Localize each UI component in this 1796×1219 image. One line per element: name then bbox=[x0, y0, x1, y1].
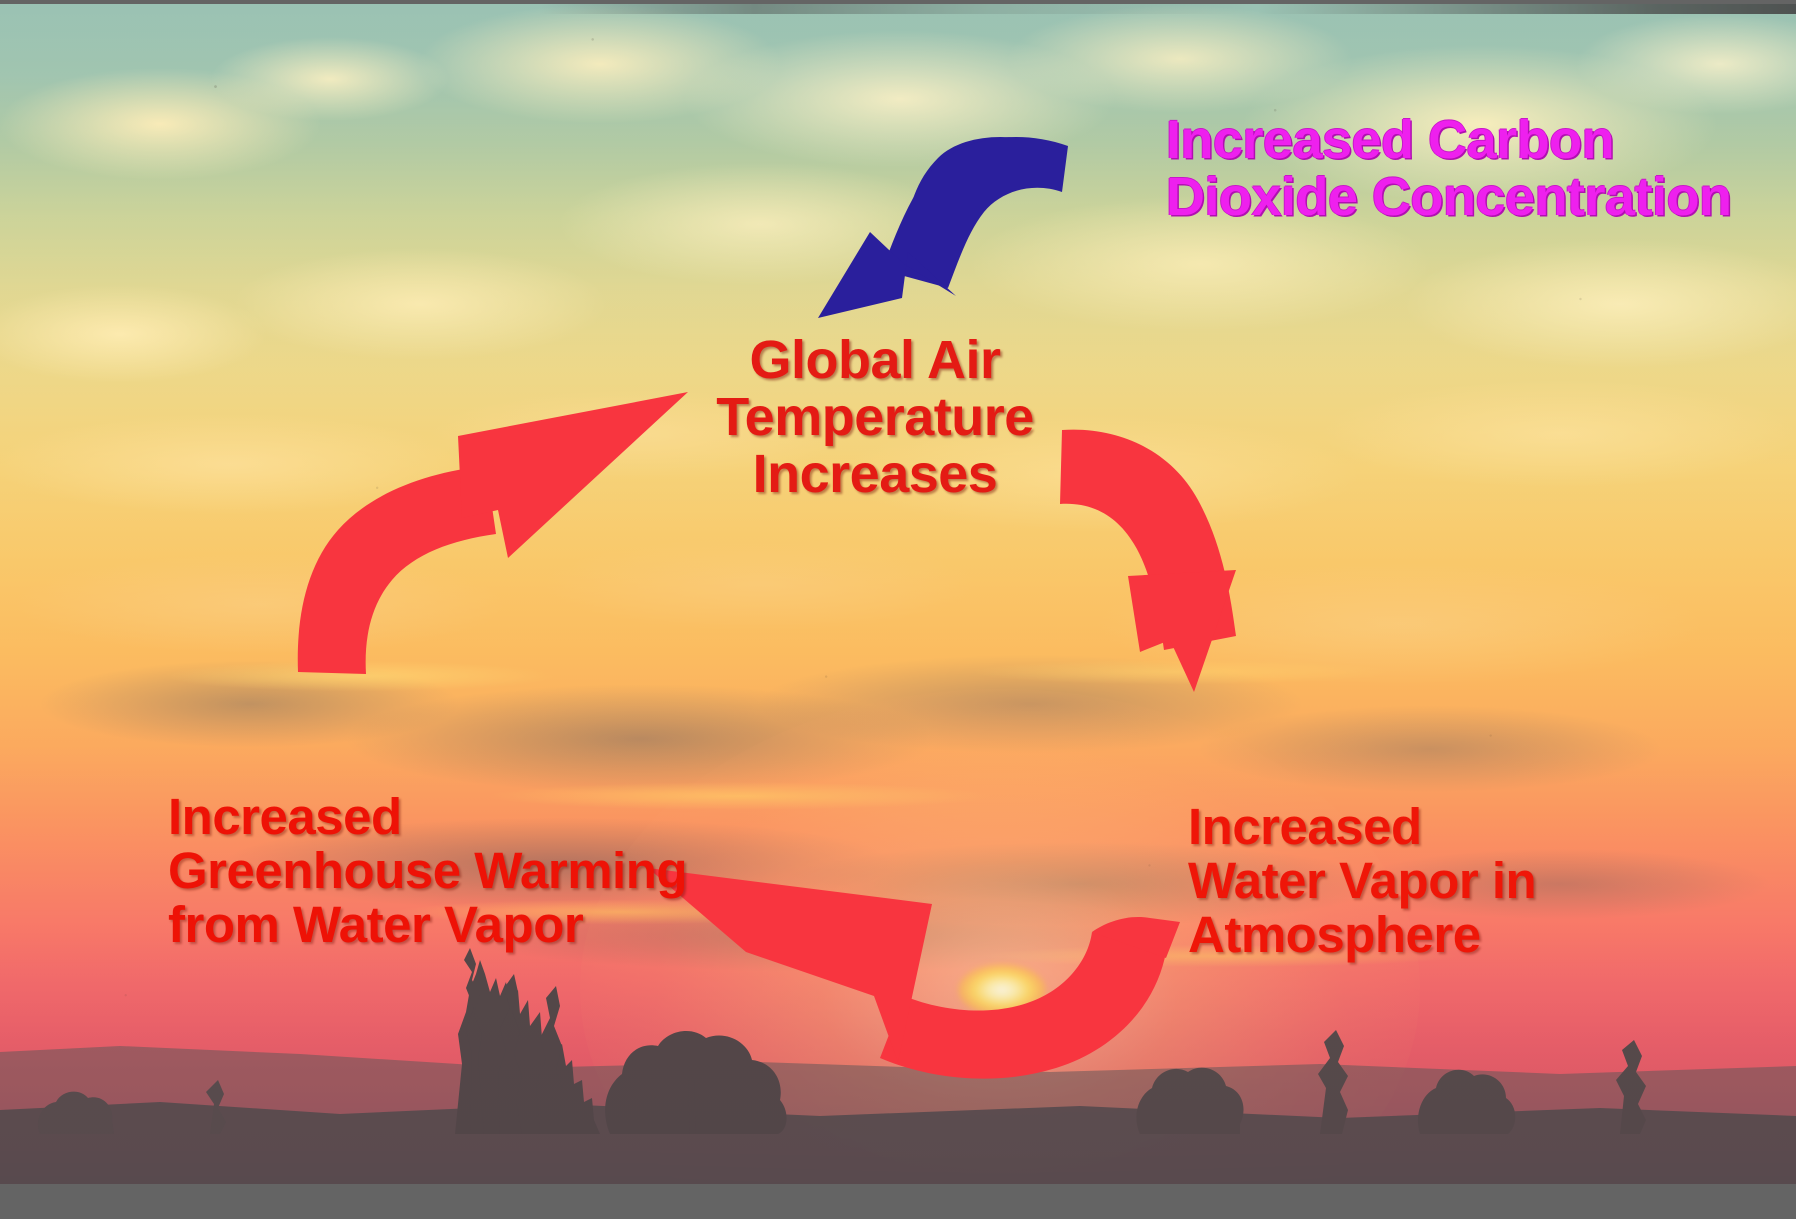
label-increased-carbon-dioxide: Increased Carbon Dioxide Concentration bbox=[1166, 112, 1796, 226]
label-increased-water-vapor: Increased Water Vapor in Atmosphere bbox=[1188, 800, 1728, 962]
label-increased-greenhouse-warming: Increased Greenhouse Warming from Water … bbox=[168, 790, 888, 952]
label-global-air-temperature: Global Air Temperature Increases bbox=[660, 332, 1090, 504]
diagram-canvas: Increased Carbon Dioxide Concentration G… bbox=[0, 0, 1796, 1219]
scan-edge-top bbox=[0, 4, 1796, 14]
